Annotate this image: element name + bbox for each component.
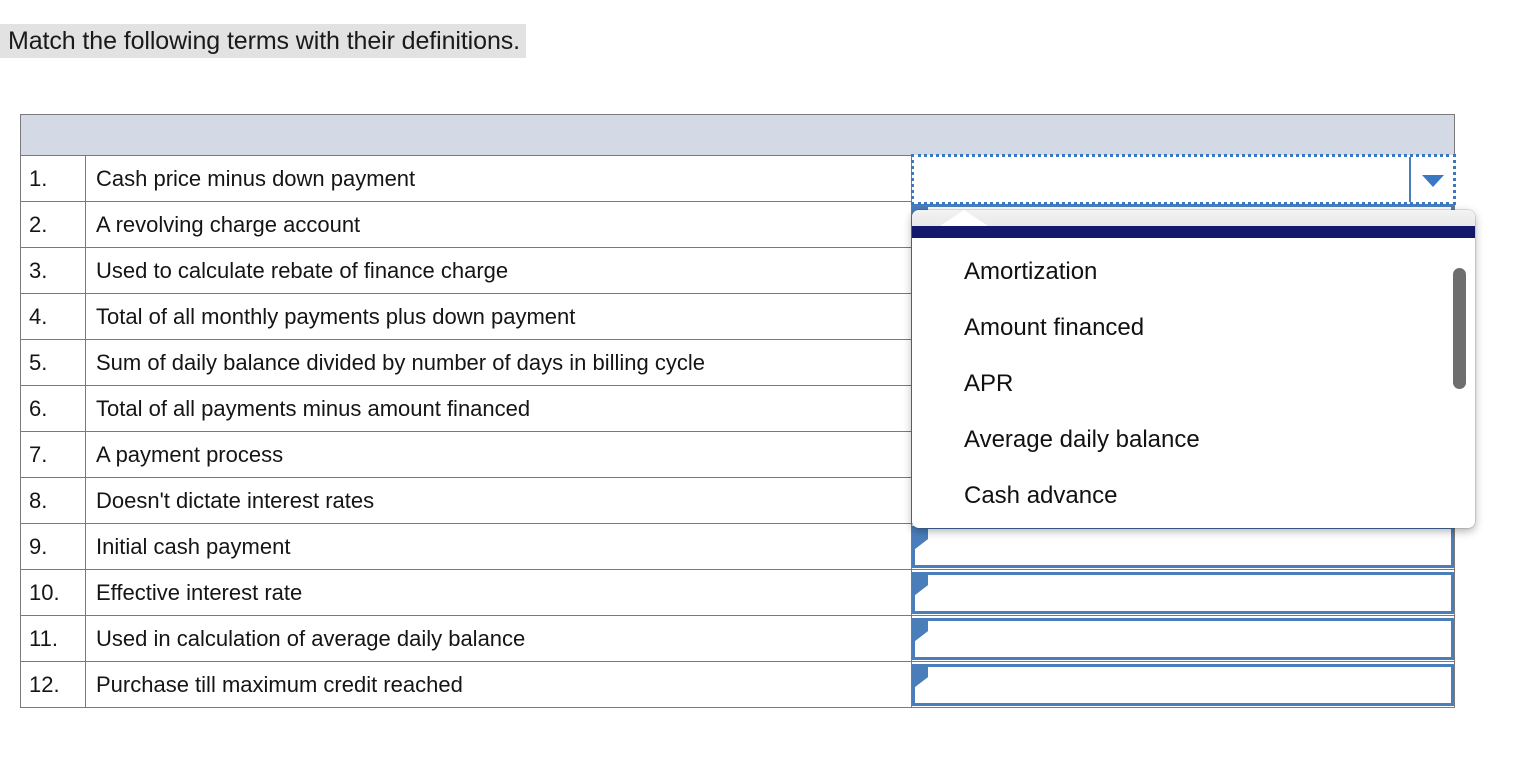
definition-text: A payment process: [86, 432, 912, 478]
dropdown-selected-option[interactable]: [912, 226, 1475, 238]
dropdown-option[interactable]: Average daily balance: [912, 412, 1475, 468]
answer-cell[interactable]: [912, 570, 1455, 616]
answer-select-row-1[interactable]: [912, 155, 1455, 204]
dropdown-option[interactable]: Amount financed: [912, 300, 1475, 356]
dropdown-top-strip: [912, 210, 1475, 226]
answer-cell[interactable]: [912, 616, 1455, 662]
answer-select-row-9[interactable]: [912, 526, 1454, 568]
triangle-right-icon: [915, 529, 928, 549]
answer-select-row-12[interactable]: [912, 664, 1454, 706]
definition-text: Used to calculate rebate of finance char…: [86, 248, 912, 294]
row-number: 7.: [21, 432, 86, 478]
triangle-right-icon: [915, 621, 928, 641]
dropdown-scrollbar[interactable]: [1453, 254, 1466, 506]
definition-text: Cash price minus down payment: [86, 156, 912, 202]
row-number: 6.: [21, 386, 86, 432]
table-row: 9.Initial cash payment: [21, 524, 1455, 570]
table-row: 10.Effective interest rate: [21, 570, 1455, 616]
dropdown-option[interactable]: Amortization: [912, 244, 1475, 300]
select-divider: [1409, 157, 1411, 202]
triangle-right-icon: [915, 575, 928, 595]
answer-cell[interactable]: [912, 524, 1455, 570]
table-row: 11.Used in calculation of average daily …: [21, 616, 1455, 662]
dropdown-option[interactable]: Cash advance: [912, 468, 1475, 524]
row-number: 1.: [21, 156, 86, 202]
table-row: 12.Purchase till maximum credit reached: [21, 662, 1455, 708]
table-header-cell: [21, 115, 1455, 156]
answer-cell[interactable]: [912, 662, 1455, 708]
triangle-right-icon: [915, 667, 928, 687]
answer-select-row-10[interactable]: [912, 572, 1454, 614]
definition-text: Sum of daily balance divided by number o…: [86, 340, 912, 386]
dropdown-option-list: AmortizationAmount financedAPRAverage da…: [912, 238, 1475, 522]
definition-text: Total of all payments minus amount finan…: [86, 386, 912, 432]
row-number: 5.: [21, 340, 86, 386]
chevron-down-icon[interactable]: [1422, 175, 1444, 187]
row-number: 2.: [21, 202, 86, 248]
dropdown-caret-icon: [940, 210, 988, 226]
definition-text: Effective interest rate: [86, 570, 912, 616]
question-prompt-text: Match the following terms with their def…: [0, 24, 526, 58]
question-prompt: Match the following terms with their def…: [0, 24, 526, 58]
answer-dropdown-panel[interactable]: AmortizationAmount financedAPRAverage da…: [912, 210, 1475, 528]
row-number: 8.: [21, 478, 86, 524]
row-number: 9.: [21, 524, 86, 570]
row-number: 12.: [21, 662, 86, 708]
dropdown-scrollbar-thumb[interactable]: [1453, 268, 1466, 389]
definition-text: Initial cash payment: [86, 524, 912, 570]
table-header-row: [21, 115, 1455, 156]
definition-text: Used in calculation of average daily bal…: [86, 616, 912, 662]
row-number: 3.: [21, 248, 86, 294]
definition-text: Purchase till maximum credit reached: [86, 662, 912, 708]
row-number: 11.: [21, 616, 86, 662]
answer-select-row-11[interactable]: [912, 618, 1454, 660]
definition-text: A revolving charge account: [86, 202, 912, 248]
definition-text: Total of all monthly payments plus down …: [86, 294, 912, 340]
dropdown-option[interactable]: APR: [912, 356, 1475, 412]
row-number: 10.: [21, 570, 86, 616]
row-number: 4.: [21, 294, 86, 340]
definition-text: Doesn't dictate interest rates: [86, 478, 912, 524]
